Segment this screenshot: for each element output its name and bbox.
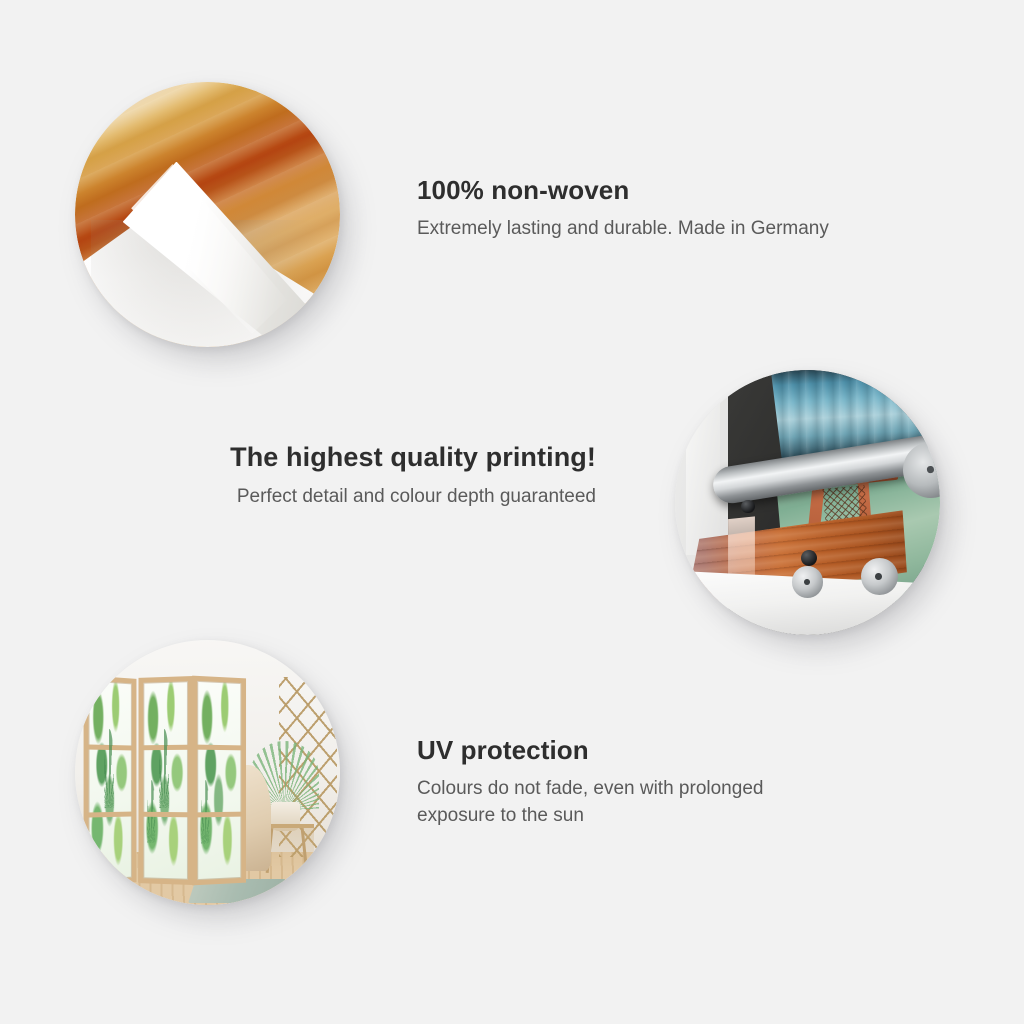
feature-image-non-woven xyxy=(75,82,340,347)
palm-leaf-icon xyxy=(159,729,169,808)
divider-panel-3 xyxy=(193,676,247,886)
printer-roller-knob-left xyxy=(792,566,824,598)
tropical-room-divider xyxy=(83,677,247,884)
divider-panel-2 xyxy=(138,676,192,885)
feature-body-non-woven: Extremely lasting and durable. Made in G… xyxy=(417,216,847,243)
feature-heading-printing: The highest quality printing! xyxy=(196,442,596,474)
feature-heading-non-woven: 100% non-woven xyxy=(417,175,847,206)
feature-text-non-woven: 100% non-woven Extremely lasting and dur… xyxy=(417,175,847,243)
printer-roller-knob-right xyxy=(861,558,898,595)
printer-lever-knob xyxy=(741,500,754,513)
feature-text-printing: The highest quality printing! Perfect de… xyxy=(196,442,596,511)
palm-leaf-icon xyxy=(201,780,209,844)
feature-heading-uv-protection: UV protection xyxy=(417,735,817,766)
printer-black-bolt xyxy=(801,550,817,566)
printing-image-inner xyxy=(675,370,940,635)
non-woven-image-inner xyxy=(75,82,340,347)
feature-image-uv-protection xyxy=(75,640,340,905)
feature-body-printing: Perfect detail and colour depth guarante… xyxy=(196,484,596,511)
feature-body-uv-protection: Colours do not fade, even with prolonged… xyxy=(417,776,817,830)
feature-highlights-page: { "page": { "background_color": "#f2f2f2… xyxy=(0,0,1024,1024)
monstera-leaf-icon xyxy=(147,780,155,843)
feature-image-printing xyxy=(675,370,940,635)
monstera-leaf-icon xyxy=(104,729,113,808)
divider-panel-1 xyxy=(84,675,137,885)
feature-text-uv-protection: UV protection Colours do not fade, even … xyxy=(417,735,817,830)
uv-image-inner xyxy=(75,640,340,905)
